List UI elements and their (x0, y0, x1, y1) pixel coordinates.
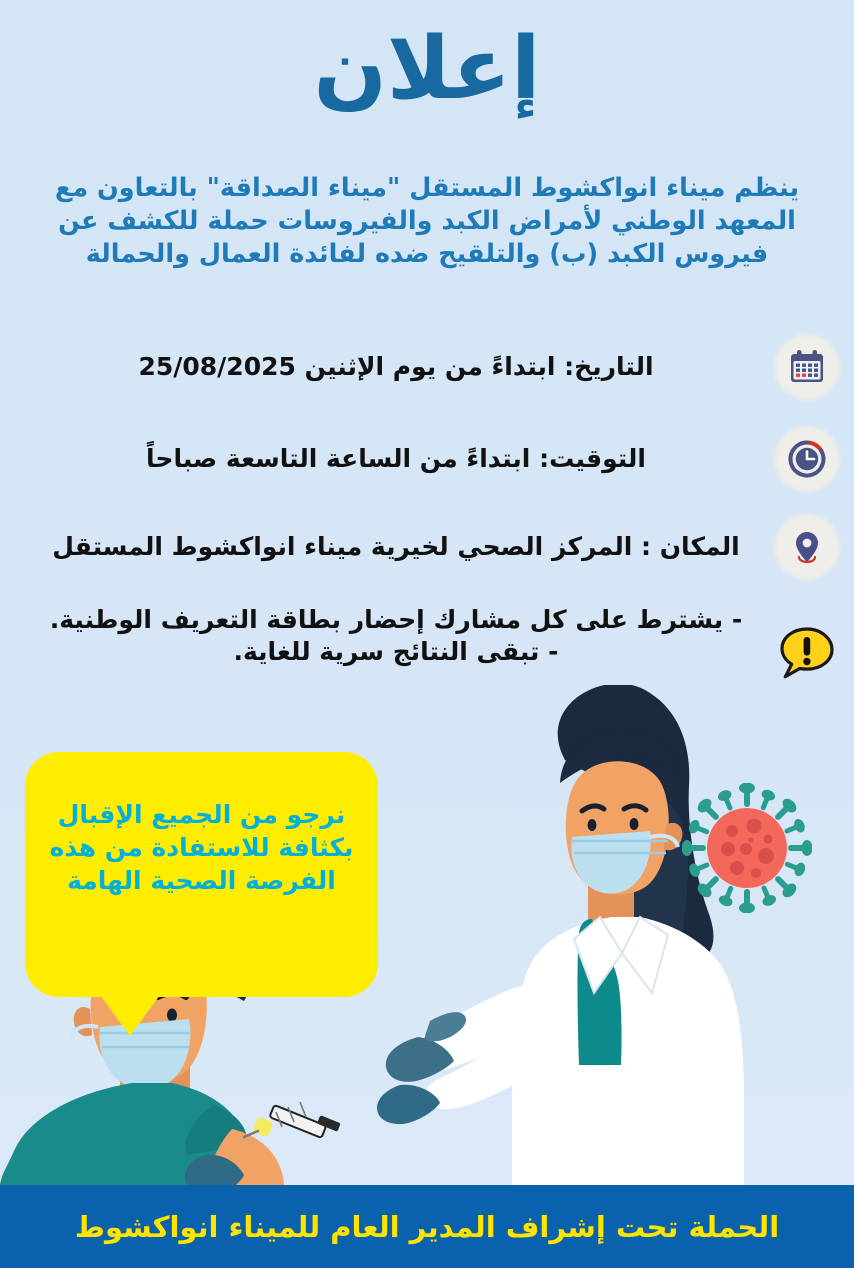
clock-icon (772, 424, 842, 494)
info-row-place-text: المكان : المركز الصحي لخيرية ميناء انواك… (12, 531, 772, 563)
info-row-time: التوقيت: ابتداءً من الساعة التاسعة صباحا… (12, 424, 842, 494)
page-title: إعلان (0, 26, 854, 112)
info-row-date: التاريخ: ابتداءً من يوم الإثنين 25/08/20… (12, 332, 842, 402)
footer-text: الحملة تحت إشراف المدير العام للميناء ان… (75, 1210, 779, 1244)
footer-banner: الحملة تحت إشراف المدير العام للميناء ان… (0, 1185, 854, 1268)
patient-eye-right (167, 1009, 177, 1022)
poster-root: إعلان ينظم ميناء انواكشوط المستقل "ميناء… (0, 0, 854, 1268)
intro-paragraph: ينظم ميناء انواكشوط المستقل "ميناء الصدا… (18, 172, 836, 271)
callout-bubble: نرجو من الجميع الإقبال بكثافة للاستفادة … (25, 752, 378, 997)
coronavirus-icon (682, 783, 812, 913)
nurse-eye-right (630, 818, 639, 830)
note-line-1: - يشترط على كل مشارك إحضار بطاقة التعريف… (20, 604, 772, 636)
syringe-icon (244, 1102, 341, 1138)
warning-exclamation-icon (772, 620, 842, 690)
nurse-eye-left (588, 819, 597, 831)
info-row-date-text: التاريخ: ابتداءً من يوم الإثنين 25/08/20… (12, 351, 772, 383)
info-row-notes-text: - يشترط على كل مشارك إحضار بطاقة التعريف… (12, 604, 772, 668)
info-row-notes: - يشترط على كل مشارك إحضار بطاقة التعريف… (12, 604, 842, 690)
callout-text: نرجو من الجميع الإقبال بكثافة للاستفادة … (25, 798, 378, 897)
location-pin-icon (772, 512, 842, 582)
note-line-2: - تبقى النتائج سرية للغاية. (20, 636, 772, 668)
info-row-place: المكان : المركز الصحي لخيرية ميناء انواك… (12, 512, 842, 582)
callout-bubble-tail (95, 988, 165, 1036)
info-row-time-text: التوقيت: ابتداءً من الساعة التاسعة صباحا… (12, 443, 772, 475)
calendar-icon (772, 332, 842, 402)
